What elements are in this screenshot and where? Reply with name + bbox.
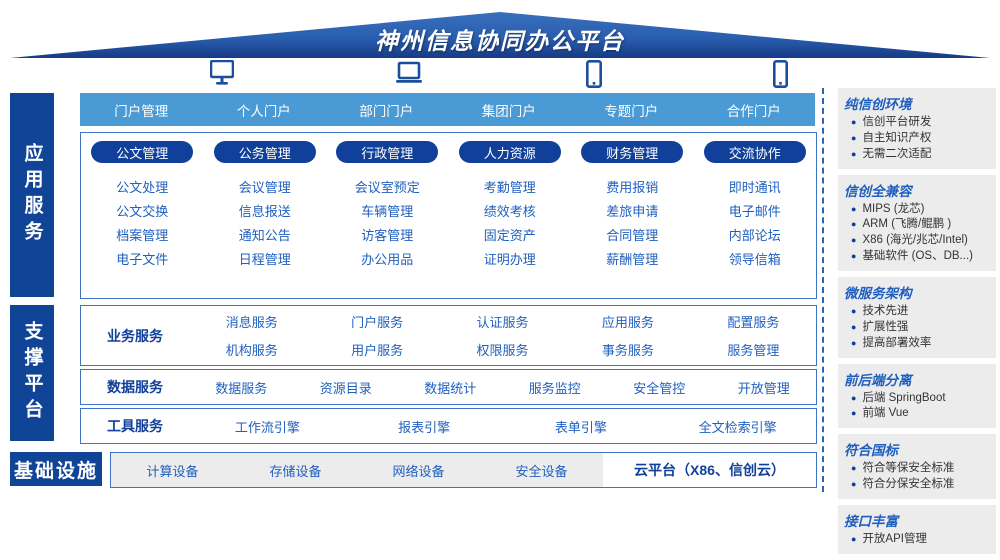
feature-item-label: 开放API管理 [862, 532, 927, 548]
app-item[interactable]: 薪酬管理 [606, 253, 658, 266]
feature-item: ●X86 (海光/兆芯/Intel) [844, 233, 990, 249]
app-item[interactable]: 电子邮件 [729, 205, 781, 218]
app-item[interactable]: 领导信箱 [729, 253, 781, 266]
tablet-icon [586, 60, 602, 88]
infrastructure-item[interactable]: 计算设备 [111, 461, 234, 480]
data-service-item[interactable]: 数据统计 [398, 378, 503, 397]
app-item[interactable]: 绩效考核 [484, 205, 536, 218]
app-column-title[interactable]: 财务管理 [581, 141, 683, 163]
feature-item: ●自主知识产权 [844, 131, 990, 147]
architecture-diagram: 神州信息协同办公平台 [0, 0, 1000, 500]
application-services-panel: 公文管理 公文处理 公文交换 档案管理 电子文件 公务管理 会议管理 信息报送 … [80, 132, 817, 299]
portal-item[interactable]: 门户管理 [80, 100, 203, 120]
portal-bar: 门户管理 个人门户 部门门户 集团门户 专题门户 合作门户 [80, 93, 815, 126]
infrastructure-devices-group: 计算设备 存储设备 网络设备 安全设备 [111, 453, 603, 487]
app-item[interactable]: 公文交换 [116, 205, 168, 218]
business-services-cell: 门户服务 用户服务 [314, 312, 439, 359]
tool-services-label: 工具服务 [81, 416, 189, 436]
app-column: 交流协作 即时通讯 电子邮件 内部论坛 领导信箱 [694, 133, 817, 298]
business-services-cell: 消息服务 机构服务 [189, 312, 314, 359]
feature-title: 信创全兼容 [844, 180, 990, 200]
business-service-item[interactable]: 机构服务 [189, 340, 314, 359]
feature-item: ●基础软件 (OS、DB...) [844, 249, 990, 265]
app-item[interactable]: 办公用品 [361, 253, 413, 266]
app-item[interactable]: 即时通讯 [729, 181, 781, 194]
app-column-title[interactable]: 交流协作 [704, 141, 806, 163]
bullet-icon: ● [851, 202, 856, 217]
feature-title: 接口丰富 [844, 510, 990, 530]
tool-services-row: 工具服务 工作流引擎 报表引擎 表单引擎 全文检索引擎 [80, 408, 817, 444]
infrastructure-item[interactable]: 安全设备 [480, 461, 603, 480]
feature-item-label: 符合等保安全标准 [862, 461, 954, 477]
business-services-cell: 认证服务 权限服务 [440, 312, 565, 359]
bullet-icon: ● [851, 461, 856, 476]
app-item[interactable]: 通知公告 [239, 229, 291, 242]
tool-service-item[interactable]: 工作流引擎 [189, 417, 346, 436]
portal-item[interactable]: 部门门户 [325, 100, 448, 120]
app-column: 人力资源 考勤管理 绩效考核 固定资产 证明办理 [449, 133, 572, 298]
bullet-icon: ● [851, 217, 856, 232]
data-services-label: 数据服务 [81, 377, 189, 397]
bullet-icon: ● [851, 147, 856, 162]
infrastructure-item[interactable]: 存储设备 [234, 461, 357, 480]
app-item[interactable]: 电子文件 [116, 253, 168, 266]
infrastructure-item[interactable]: 网络设备 [357, 461, 480, 480]
app-column-title[interactable]: 人力资源 [459, 141, 561, 163]
bullet-icon: ● [851, 336, 856, 351]
feature-item-label: 技术先进 [862, 304, 908, 320]
feature-item-label: 基础软件 (OS、DB...) [862, 249, 973, 265]
app-column: 财务管理 费用报销 差旅申请 合同管理 薪酬管理 [571, 133, 694, 298]
tool-service-item[interactable]: 表单引擎 [503, 417, 660, 436]
app-column: 公文管理 公文处理 公文交换 档案管理 电子文件 [81, 133, 204, 298]
banner: 神州信息协同办公平台 [0, 0, 1000, 62]
business-service-item[interactable]: 服务管理 [691, 340, 816, 359]
feature-item: ●后端 SpringBoot [844, 391, 990, 407]
app-item[interactable]: 考勤管理 [484, 181, 536, 194]
app-column: 公务管理 会议管理 信息报送 通知公告 日程管理 [204, 133, 327, 298]
feature-item: ●信创平台研发 [844, 115, 990, 131]
app-column-title[interactable]: 行政管理 [336, 141, 438, 163]
feature-block: 符合国标 ●符合等保安全标准 ●符合分保安全标准 [838, 434, 996, 499]
bullet-icon: ● [851, 115, 856, 130]
business-service-item[interactable]: 认证服务 [440, 312, 565, 331]
bullet-icon: ● [851, 233, 856, 248]
app-item[interactable]: 车辆管理 [361, 205, 413, 218]
data-service-item[interactable]: 开放管理 [712, 378, 817, 397]
feature-item: ●ARM (飞腾/鲲鹏 ) [844, 217, 990, 233]
bullet-icon: ● [851, 532, 856, 547]
app-column: 行政管理 会议室预定 车辆管理 访客管理 办公用品 [326, 133, 449, 298]
tool-service-item[interactable]: 全文检索引擎 [659, 417, 816, 436]
feature-block: 接口丰富 ●开放API管理 [838, 505, 996, 554]
feature-title: 前后端分离 [844, 369, 990, 389]
app-item[interactable]: 内部论坛 [729, 229, 781, 242]
app-item[interactable]: 信息报送 [239, 205, 291, 218]
data-service-item[interactable]: 数据服务 [189, 378, 294, 397]
feature-item-label: 前端 Vue [862, 406, 908, 422]
feature-item-label: ARM (飞腾/鲲鹏 ) [862, 217, 951, 233]
portal-item[interactable]: 专题门户 [570, 100, 693, 120]
bullet-icon: ● [851, 391, 856, 406]
feature-item: ●前端 Vue [844, 406, 990, 422]
business-service-item[interactable]: 用户服务 [314, 340, 439, 359]
business-service-item[interactable]: 配置服务 [691, 312, 816, 331]
app-column-title[interactable]: 公务管理 [214, 141, 316, 163]
feature-item-label: 自主知识产权 [862, 131, 931, 147]
portal-item[interactable]: 合作门户 [693, 100, 816, 120]
business-service-item[interactable]: 消息服务 [189, 312, 314, 331]
app-item[interactable]: 日程管理 [239, 253, 291, 266]
laptop-icon [396, 60, 422, 88]
business-services-label: 业务服务 [81, 326, 189, 346]
app-item[interactable]: 差旅申请 [606, 205, 658, 218]
business-service-item[interactable]: 应用服务 [565, 312, 690, 331]
data-service-item[interactable]: 安全管控 [607, 378, 712, 397]
rail-infrastructure: 基础设施 [10, 452, 102, 486]
rail-support-platform-label: 支撑平台 [19, 321, 46, 425]
bullet-icon: ● [851, 477, 856, 492]
app-item[interactable]: 会议管理 [239, 181, 291, 194]
business-services-row: 业务服务 消息服务 机构服务 门户服务 用户服务 认证服务 权限服务 应用服务 … [80, 305, 817, 366]
feature-block: 纯信创环境 ●信创平台研发 ●自主知识产权 ●无需二次适配 [838, 88, 996, 169]
app-column-title[interactable]: 公文管理 [91, 141, 193, 163]
feature-item-label: 扩展性强 [862, 320, 908, 336]
feature-title: 符合国标 [844, 439, 990, 459]
feature-item-label: 符合分保安全标准 [862, 477, 954, 493]
bullet-icon: ● [851, 249, 856, 264]
app-item[interactable]: 会议室预定 [355, 181, 420, 194]
feature-block: 信创全兼容 ●MIPS (龙芯) ●ARM (飞腾/鲲鹏 ) ●X86 (海光/… [838, 175, 996, 271]
vertical-dashed-divider [822, 88, 824, 492]
data-service-item[interactable]: 服务监控 [503, 378, 608, 397]
bullet-icon: ● [851, 131, 856, 146]
feature-item: ●技术先进 [844, 304, 990, 320]
feature-item: ●扩展性强 [844, 320, 990, 336]
feature-item: ●提高部署效率 [844, 336, 990, 352]
rail-infrastructure-label: 基础设施 [14, 456, 98, 483]
portal-item[interactable]: 集团门户 [448, 100, 571, 120]
bullet-icon: ● [851, 304, 856, 319]
app-item[interactable]: 档案管理 [116, 229, 168, 242]
data-services-row: 数据服务 数据服务 资源目录 数据统计 服务监控 安全管控 开放管理 [80, 369, 817, 405]
feature-item: ●MIPS (龙芯) [844, 202, 990, 218]
rail-support-platform: 支撑平台 [10, 305, 54, 441]
feature-panel: 纯信创环境 ●信创平台研发 ●自主知识产权 ●无需二次适配 信创全兼容 ●MIP… [838, 88, 996, 560]
rail-application-services-label: 应用服务 [19, 143, 46, 247]
bullet-icon: ● [851, 406, 856, 421]
app-item[interactable]: 合同管理 [606, 229, 658, 242]
portal-item[interactable]: 个人门户 [203, 100, 326, 120]
device-icon-row [0, 60, 1000, 90]
feature-item: ●符合分保安全标准 [844, 477, 990, 493]
feature-item-label: 后端 SpringBoot [862, 391, 945, 407]
data-service-item[interactable]: 资源目录 [294, 378, 399, 397]
app-item[interactable]: 费用报销 [606, 181, 658, 194]
bullet-icon: ● [851, 320, 856, 335]
business-services-cell: 配置服务 服务管理 [691, 312, 816, 359]
feature-item: ●符合等保安全标准 [844, 461, 990, 477]
business-service-item[interactable]: 事务服务 [565, 340, 690, 359]
app-item[interactable]: 固定资产 [484, 229, 536, 242]
feature-item: ●开放API管理 [844, 532, 990, 548]
cloud-platform-item[interactable]: 云平台（X86、信创云） [603, 460, 816, 480]
feature-item-label: 信创平台研发 [862, 115, 931, 131]
business-services-cell: 应用服务 事务服务 [565, 312, 690, 359]
feature-block: 微服务架构 ●技术先进 ●扩展性强 ●提高部署效率 [838, 277, 996, 358]
app-item[interactable]: 访客管理 [361, 229, 413, 242]
page-title: 神州信息协同办公平台 [0, 22, 1000, 56]
app-item[interactable]: 公文处理 [116, 181, 168, 194]
feature-item-label: MIPS (龙芯) [862, 202, 924, 218]
feature-item: ●无需二次适配 [844, 147, 990, 163]
desktop-icon [210, 60, 234, 88]
rail-application-services: 应用服务 [10, 93, 54, 297]
business-service-item[interactable]: 权限服务 [440, 340, 565, 359]
feature-title: 纯信创环境 [844, 93, 990, 113]
feature-title: 微服务架构 [844, 282, 990, 302]
app-item[interactable]: 证明办理 [484, 253, 536, 266]
feature-item-label: X86 (海光/兆芯/Intel) [862, 233, 967, 249]
feature-block: 前后端分离 ●后端 SpringBoot ●前端 Vue [838, 364, 996, 429]
tool-service-item[interactable]: 报表引擎 [346, 417, 503, 436]
feature-item-label: 无需二次适配 [862, 147, 931, 163]
business-service-item[interactable]: 门户服务 [314, 312, 439, 331]
infrastructure-row: 计算设备 存储设备 网络设备 安全设备 云平台（X86、信创云） [110, 452, 817, 488]
phone-icon [773, 60, 788, 88]
feature-item-label: 提高部署效率 [862, 336, 931, 352]
